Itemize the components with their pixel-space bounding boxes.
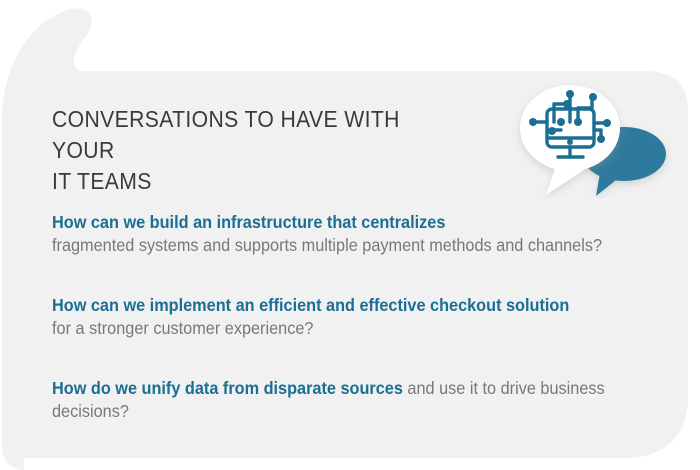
question-3-lead: How do we unify data from disparate sour… [52, 378, 403, 398]
question-item-2: How can we implement an efficient and ef… [52, 294, 667, 340]
question-2-lead: How can we implement an efficient and ef… [52, 294, 624, 317]
speech-bubbles-with-computer-network-icon [508, 78, 678, 198]
question-1-lead: How can we build an infrastructure that … [52, 211, 624, 234]
question-1-rest: fragmented systems and supports multiple… [52, 234, 624, 257]
question-3-text: How do we unify data from disparate sour… [52, 377, 624, 423]
question-2-rest: for a stronger customer experience? [52, 317, 624, 340]
page-title: Conversations to have with your IT teams [52, 104, 457, 197]
infographic-card: Conversations to have with your IT teams [0, 0, 700, 470]
question-item-3: How do we unify data from disparate sour… [52, 377, 667, 423]
question-item-1: How can we build an infrastructure that … [52, 211, 667, 257]
question-list: How can we build an infrastructure that … [52, 211, 667, 423]
